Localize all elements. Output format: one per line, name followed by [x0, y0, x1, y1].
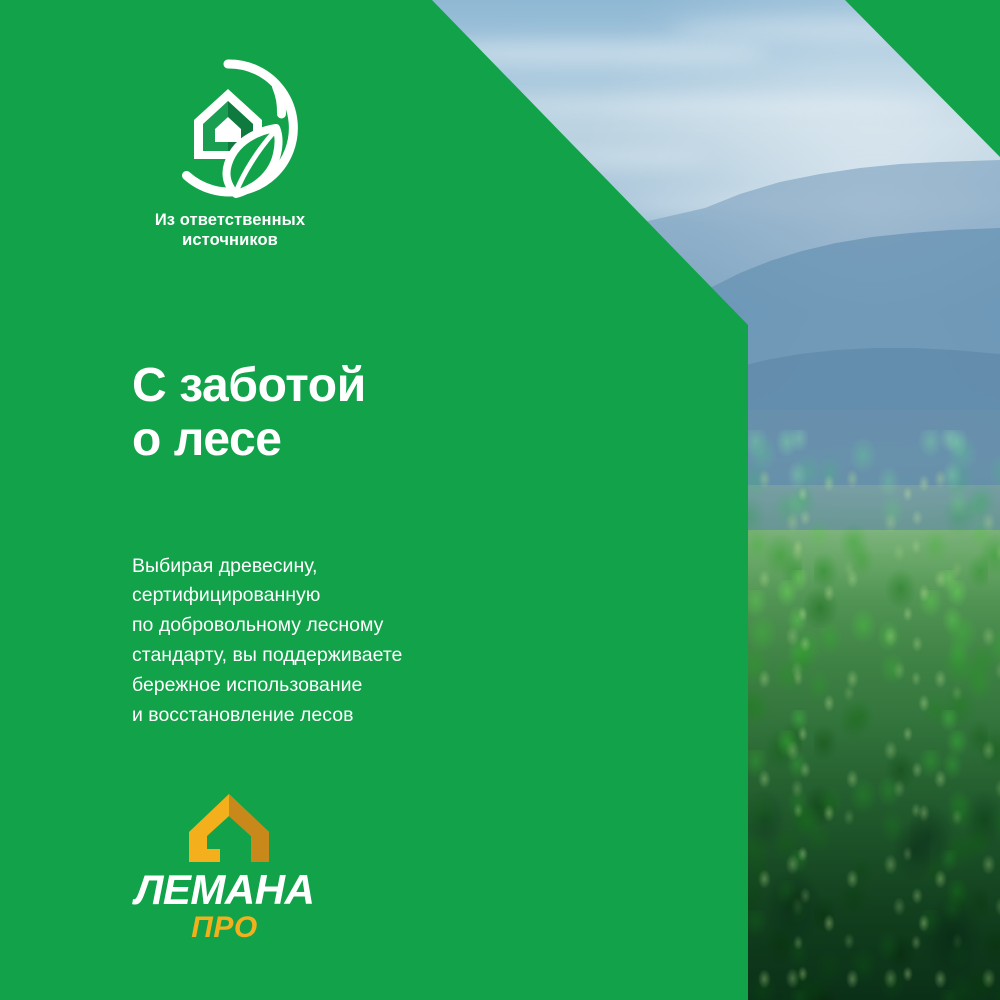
- poster-canvas: Из ответственных источников С заботой о …: [0, 0, 1000, 1000]
- badge-caption: Из ответственных источников: [130, 210, 330, 250]
- content-column: Из ответственных источников С заботой о …: [0, 0, 430, 1000]
- forest-landscape-photo: [430, 0, 1000, 1000]
- brand-suffix: ПРО: [132, 913, 317, 943]
- cloud-streak: [670, 18, 1000, 40]
- page-title: С заботой о лесе: [132, 359, 432, 467]
- body-paragraph: Выбирая древесину, сертифицированную по …: [132, 552, 522, 731]
- lemana-house-icon: [187, 792, 271, 864]
- responsible-sources-badge: Из ответственных источников: [130, 58, 360, 250]
- cloud-streak: [490, 96, 950, 116]
- brand-name: ЛЕМАНА: [132, 869, 317, 911]
- lemana-pro-logo: ЛЕМАНА ПРО: [132, 792, 332, 943]
- house-leaf-circle-icon: [158, 58, 298, 198]
- foreground-dark-trees: [430, 770, 1000, 1000]
